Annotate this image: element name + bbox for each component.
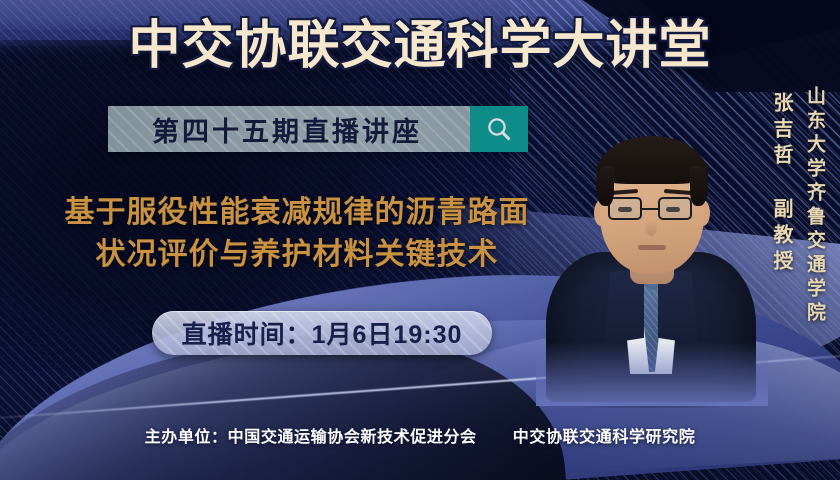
- lecture-topic: 基于服役性能衰减规律的沥青路面 状况评价与养护材料关键技术: [12, 192, 582, 276]
- portrait-glasses-left: [608, 197, 642, 220]
- portrait-hair-side-right: [690, 166, 708, 206]
- speaker-name: 张吉哲 副教授: [767, 92, 796, 276]
- lecture-poster: 中交协联交通科学大讲堂 第四十五期直播讲座 基于服役性能衰减规律的沥青路面 状况…: [0, 0, 840, 480]
- organizer-footer: 主办单位：中国交通运输协会新技术促进分会 中交协联交通科学研究院: [0, 423, 840, 447]
- broadcast-time-label: 直播时间：1月6日19:30: [182, 315, 463, 351]
- topic-line-2: 状况评价与养护材料关键技术: [12, 234, 582, 276]
- portrait-mouth: [638, 245, 666, 250]
- search-icon[interactable]: [470, 106, 528, 152]
- episode-bar: 第四十五期直播讲座: [108, 106, 528, 152]
- page-title: 中交协联交通科学大讲堂: [0, 14, 840, 78]
- organizer-secondary: 中交协联交通科学研究院: [513, 429, 696, 446]
- portrait-bottom-fade: [536, 342, 768, 406]
- portrait-hair-side-left: [596, 166, 614, 206]
- speaker-affiliation: 山东大学齐鲁交通学院: [801, 86, 828, 326]
- portrait-glasses-bridge: [642, 208, 658, 210]
- broadcast-time-pill: 直播时间：1月6日19:30: [152, 311, 492, 355]
- episode-label: 第四十五期直播讲座: [108, 106, 470, 152]
- portrait-glasses-right: [658, 197, 692, 220]
- portrait-nose: [646, 220, 657, 236]
- organizer-primary: 主办单位：中国交通运输协会新技术促进分会: [145, 429, 477, 446]
- topic-line-1: 基于服役性能衰减规律的沥青路面: [65, 196, 530, 229]
